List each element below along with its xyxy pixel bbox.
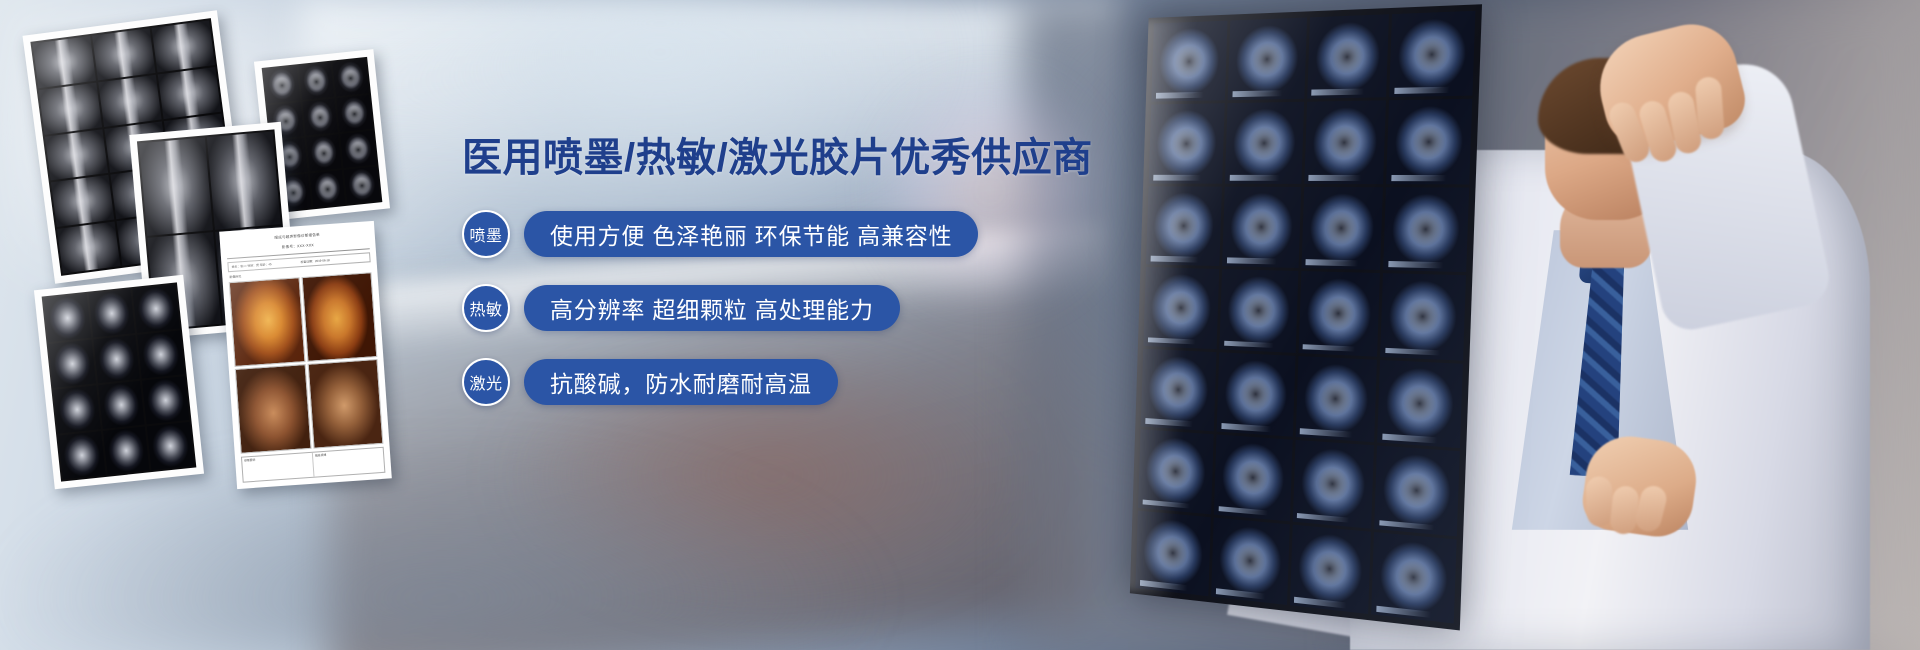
ultrasound-image-2 [307, 359, 383, 449]
film-stack: 眼底与超声影像诊断报告单 影像号：XXX-XXX 姓名：张×× 性别：男 年龄：… [0, 0, 420, 650]
feature-pill-inkjet[interactable]: 使用方便 色泽艳丽 环保节能 高兼容性 [524, 211, 978, 257]
feature-row-thermal: 热敏 高分辨率 超细颗粒 高处理能力 [462, 284, 1082, 332]
feature-list: 喷墨 使用方便 色泽艳丽 环保节能 高兼容性 热敏 高分辨率 超细颗粒 高处理能… [462, 210, 1082, 406]
feature-badge-thermal[interactable]: 热敏 [462, 284, 510, 332]
feature-pill-laser[interactable]: 抗酸碱，防水耐磨耐高温 [524, 359, 838, 405]
feature-pill-thermal[interactable]: 高分辨率 超细颗粒 高处理能力 [524, 285, 900, 331]
fundus-image-2 [301, 272, 377, 362]
hero-banner: 眼底与超声影像诊断报告单 影像号：XXX-XXX 姓名：张×× 性别：男 年龄：… [0, 0, 1920, 650]
report-footer-left: 诊断医师 [242, 453, 315, 482]
feature-badge-inkjet[interactable]: 喷墨 [462, 210, 510, 258]
report-footer-right: 报告日期 [313, 448, 385, 477]
report-image-grid [229, 272, 384, 453]
held-mri-film-sheet [1130, 4, 1482, 630]
report-meta-right: 检查日期：2019-06-18 [300, 255, 366, 264]
feature-badge-laser[interactable]: 激光 [462, 358, 510, 406]
banner-content: 医用喷墨/热敏/激光胶片优秀供应商 喷墨 使用方便 色泽艳丽 环保节能 高兼容性… [462, 136, 1082, 406]
printed-report-sheet: 眼底与超声影像诊断报告单 影像号：XXX-XXX 姓名：张×× 性别：男 年龄：… [219, 221, 392, 489]
feature-row-laser: 激光 抗酸碱，防水耐磨耐高温 [462, 358, 1082, 406]
fundus-image-1 [229, 278, 305, 368]
page-title: 医用喷墨/热敏/激光胶片优秀供应商 [462, 136, 1082, 180]
report-meta-left: 姓名：张×× 性别：男 年龄：45 [232, 260, 298, 269]
film-sheet-mri-head [34, 275, 204, 490]
ultrasound-image-1 [235, 364, 311, 454]
doctor-photo [1040, 0, 1920, 650]
feature-row-inkjet: 喷墨 使用方便 色泽艳丽 环保节能 高兼容性 [462, 210, 1082, 258]
